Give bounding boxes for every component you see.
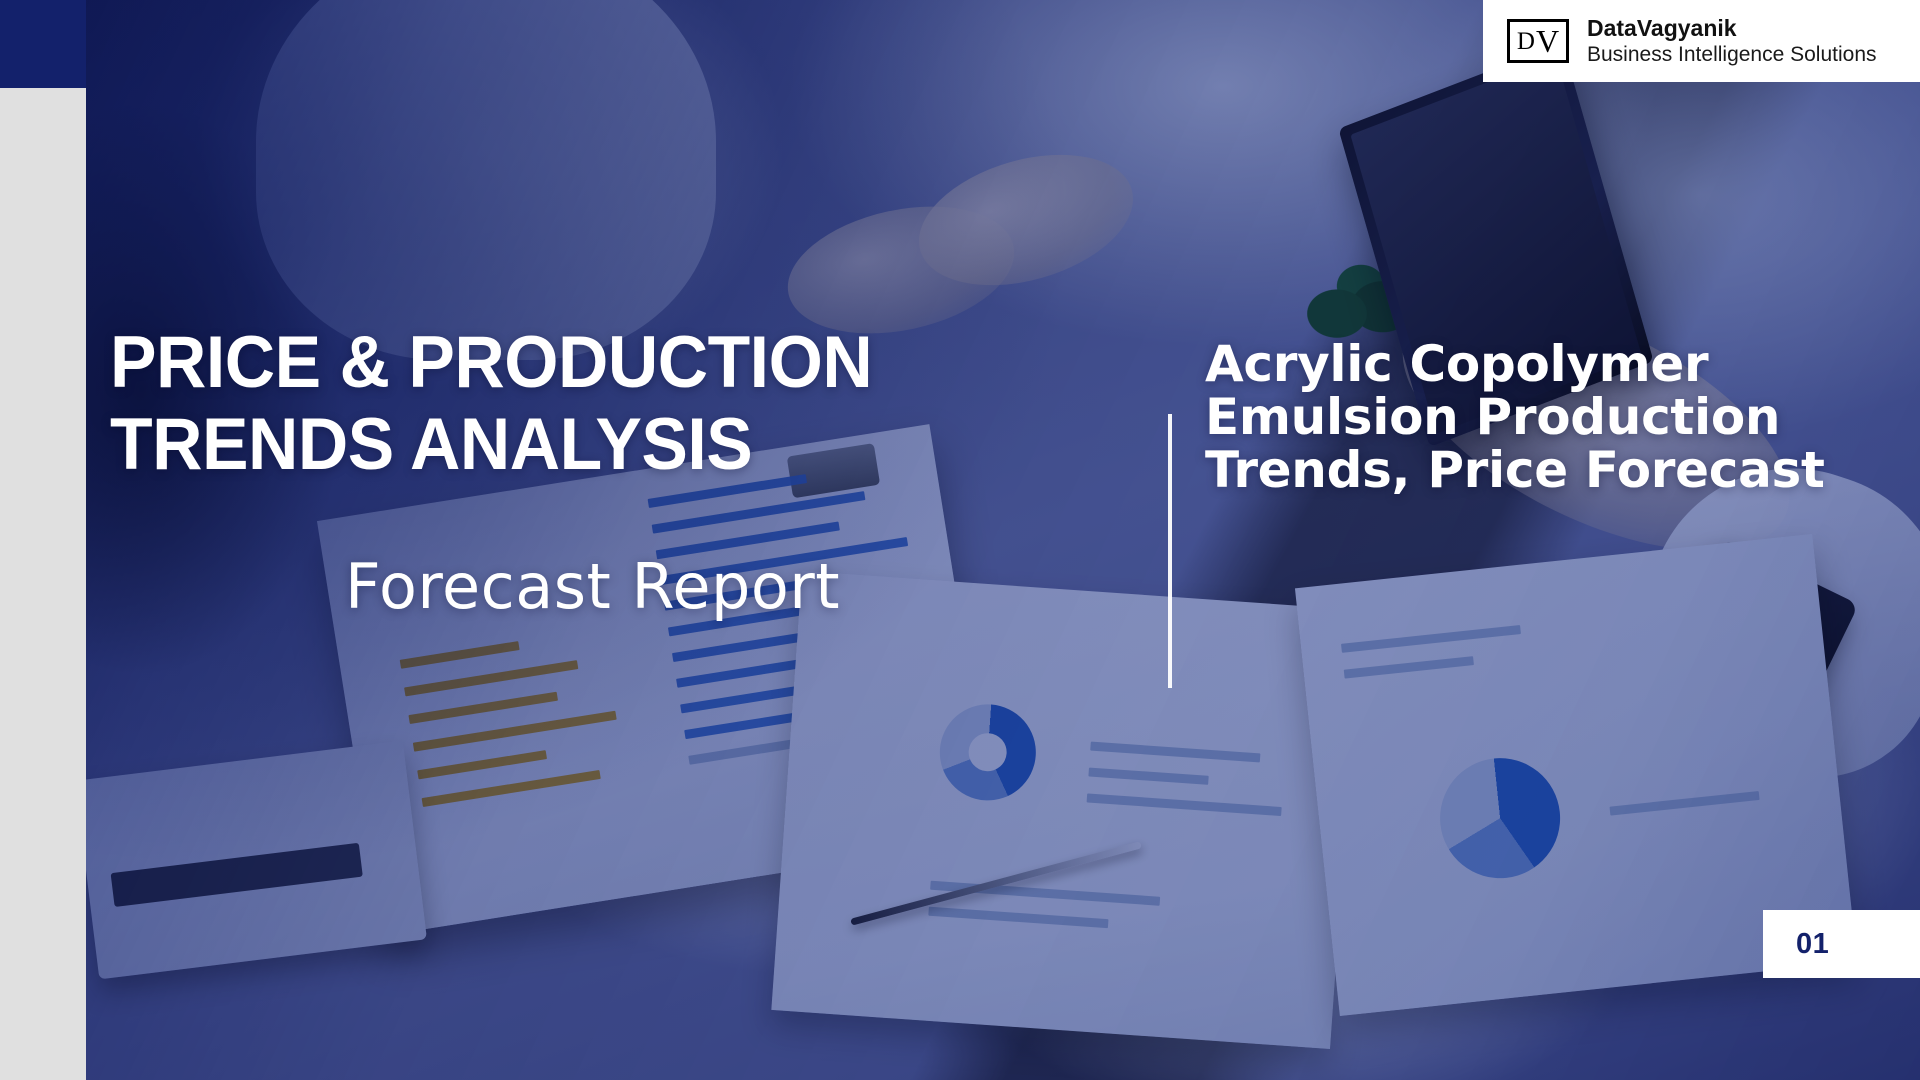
monogram-letter-v: V bbox=[1536, 25, 1559, 57]
monogram-letter-d: D bbox=[1517, 29, 1535, 54]
slide-content: PRICE & PRODUCTION TRENDS ANALYSIS Forec… bbox=[0, 0, 1920, 1080]
page-number-badge: 01 bbox=[1763, 910, 1920, 978]
brand-text-block: DataVagyanik Business Intelligence Solut… bbox=[1587, 15, 1877, 68]
dv-monogram-icon: D V bbox=[1507, 19, 1569, 63]
vertical-divider bbox=[1168, 414, 1172, 688]
subtitle: Forecast Report bbox=[345, 552, 840, 622]
brand-name: DataVagyanik bbox=[1587, 15, 1877, 42]
brand-tagline: Business Intelligence Solutions bbox=[1587, 42, 1877, 68]
page-title: PRICE & PRODUCTION TRENDS ANALYSIS bbox=[110, 322, 903, 486]
brand-logo-badge: D V DataVagyanik Business Intelligence S… bbox=[1483, 0, 1920, 82]
report-subject-title: Acrylic Copolymer Emulsion Production Tr… bbox=[1205, 338, 1905, 497]
page-number: 01 bbox=[1796, 928, 1829, 961]
title-slide: PRICE & PRODUCTION TRENDS ANALYSIS Forec… bbox=[0, 0, 1920, 1080]
